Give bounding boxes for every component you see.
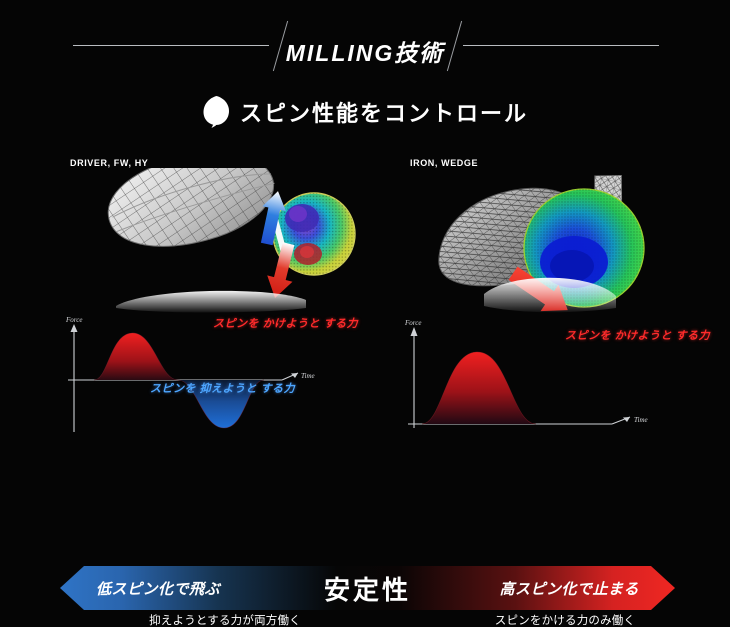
iron-note-spin-apply: スピンを かけようと する力 xyxy=(565,330,710,344)
iron-x-axis-label: Time xyxy=(634,416,648,424)
driver-head-illustration xyxy=(60,168,390,318)
driver-note-spin-apply: スピンを かけようと する力 xyxy=(213,318,358,332)
iron-note-spin-apply-l2: かけようと xyxy=(615,330,673,342)
driver-note-spin-apply-l2: かけようと xyxy=(263,318,321,330)
caption-driver-line2: 抑えようとする力が両方働く xyxy=(60,613,390,627)
driver-note-spin-apply-l3: する力 xyxy=(324,318,359,330)
driver-x-axis-label: Time xyxy=(301,372,315,380)
spin-scale-right-label: 高スピン化で止まる xyxy=(499,566,639,610)
driver-note-spin-suppress-l3: する力 xyxy=(261,383,296,395)
spin-stability-scale: 低スピン化で飛ぶ 安定性 高スピン化で止まる xyxy=(60,566,675,610)
iron-head-illustration xyxy=(400,168,730,318)
driver-note-spin-apply-l1: スピンを xyxy=(213,318,259,330)
caption-iron-line2: スピンをかける力のみ働く xyxy=(400,613,730,627)
driver-note-spin-suppress: スピンを 抑えようと する力 xyxy=(150,383,295,397)
driver-y-axis-label: Force xyxy=(65,316,82,324)
panel-driver: DRIVER, FW, HY xyxy=(60,150,390,550)
milling-technology-infographic: MILLING技術 スピン性能をコントロール DRIVER, FW, HY xyxy=(0,0,730,627)
iron-note-spin-apply-l3: する力 xyxy=(676,330,711,342)
panel-iron: IRON, WEDGE xyxy=(400,150,730,550)
iron-force-time-chart: Force Time xyxy=(400,310,730,435)
panel-label-driver: DRIVER, FW, HY xyxy=(70,158,148,168)
subtitle-text: スピン性能をコントロール xyxy=(240,96,528,128)
header: MILLING技術 xyxy=(0,14,730,74)
page-title: MILLING技術 xyxy=(0,34,730,68)
driver-note-spin-suppress-l1: スピンを xyxy=(150,383,196,395)
panel-label-iron: IRON, WEDGE xyxy=(410,158,478,168)
subtitle-row: スピン性能をコントロール xyxy=(0,95,730,128)
driver-note-spin-suppress-l2: 抑えようと xyxy=(200,383,258,395)
leaf-icon xyxy=(202,95,230,128)
iron-note-spin-apply-l1: スピンを xyxy=(565,330,611,342)
iron-y-axis-label: Force xyxy=(404,319,421,327)
